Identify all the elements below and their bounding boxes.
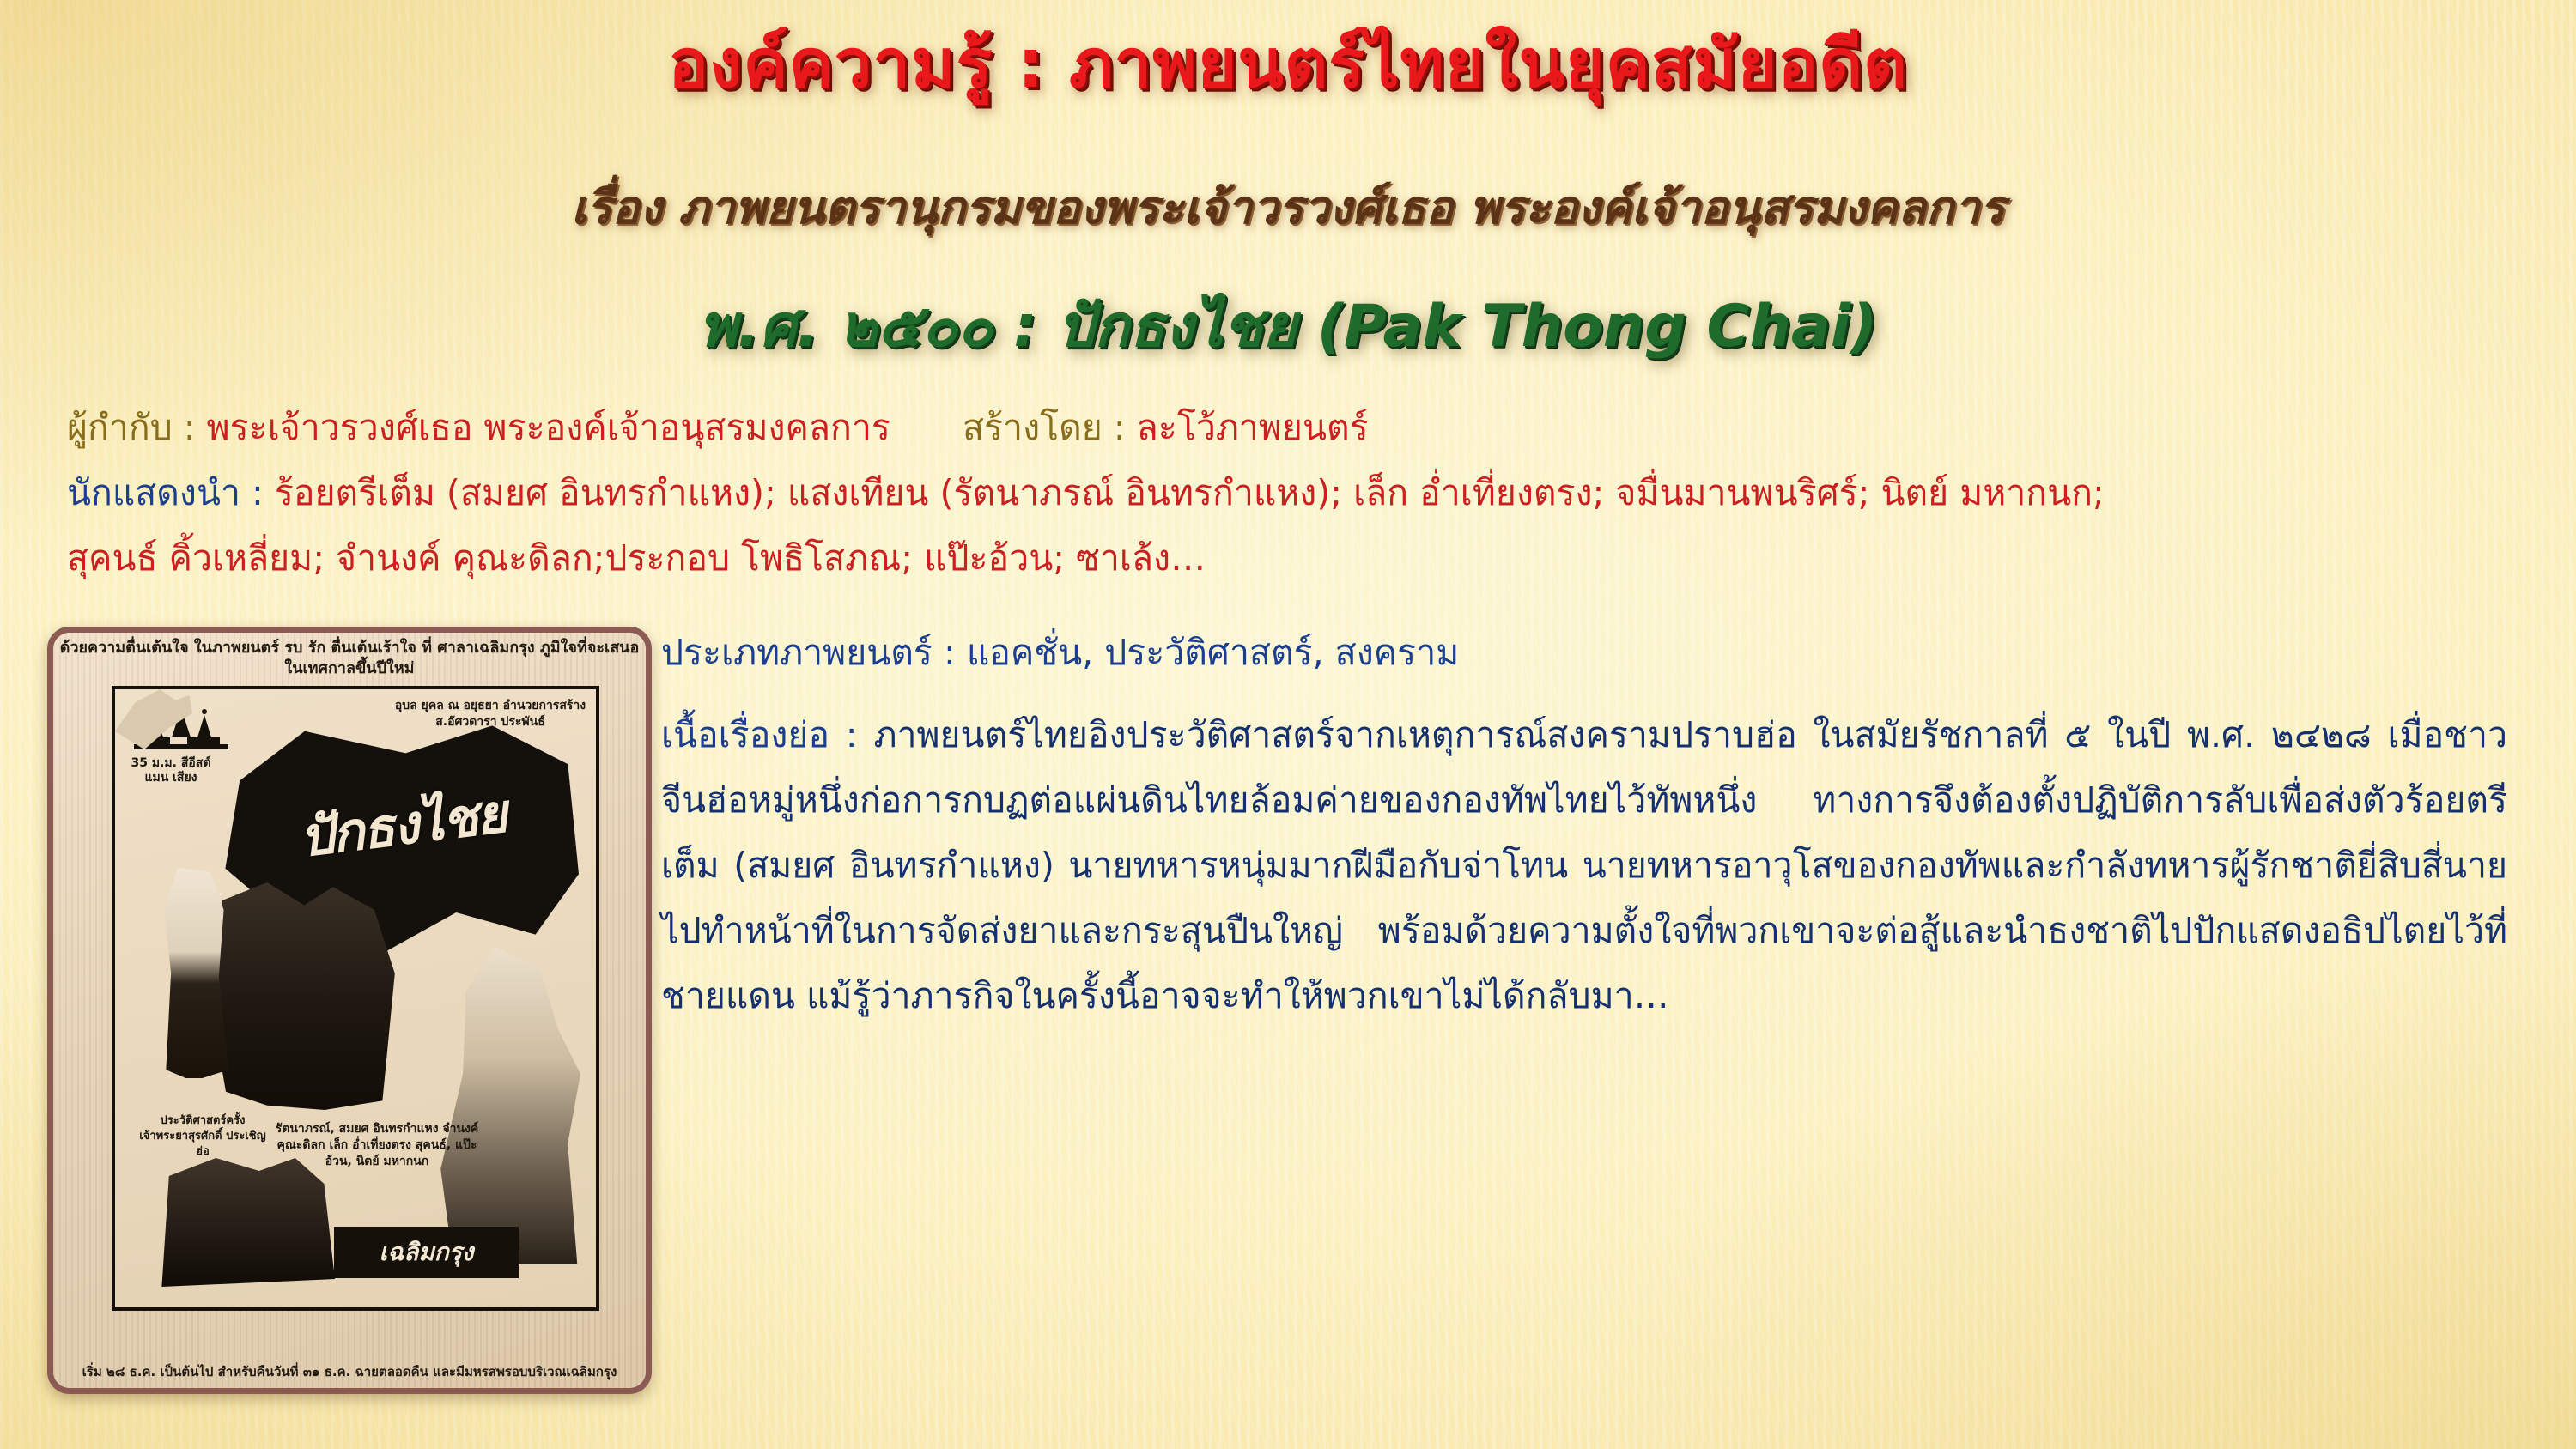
cast-line-2: สุคนธ์ คิ้วเหลี่ยม; จำนงค์ คุณะดิลก;ประก… bbox=[67, 537, 1206, 579]
poster-credits-right: อุบล ยุคล ณ อยุธยา อำนวยการสร้าง ส.อัศวด… bbox=[392, 698, 589, 731]
synopsis-text: ภาพยนตร์ไทยอิงประวัติศาสตร์จากเหตุการณ์ส… bbox=[661, 714, 2507, 1016]
genre-label: ประเภทภาพยนตร์ : bbox=[661, 632, 956, 673]
movie-poster: ด้วยความตื่นเต้นใจ ในภาพยนตร์ รบ รัก ตื่… bbox=[47, 627, 652, 1394]
poster-cast-list: รัตนาภรณ์, สมยศ อินทรกำแหง จำนงค์ คุณะดิ… bbox=[270, 1121, 484, 1170]
cast-line-1: ร้อยตรีเต็ม (สมยศ อินทรกำแหง); แสงเทียน … bbox=[275, 472, 2105, 513]
cast-label: นักแสดงนำ : bbox=[67, 472, 264, 513]
page-subtitle: เรื่อง ภาพยนตรานุกรมของพระเจ้าวรวงศ์เธอ … bbox=[0, 170, 2576, 244]
director-value: พระเจ้าวรวงศ์เธอ พระองค์เจ้าอนุสรมงคลการ bbox=[207, 407, 890, 448]
poster-artwork: 35 ม.ม. สีอีสต์แมน เสียง อุบล ยุคล ณ อยุ… bbox=[112, 686, 599, 1311]
poster-format-note: 35 ม.ม. สีอีสต์แมน เสียง bbox=[124, 756, 218, 785]
page-title: องค์ความรู้ : ภาพยนตร์ไทยในยุคสมัยอดีต bbox=[0, 10, 2576, 117]
cast-row-1: นักแสดงนำ : ร้อยตรีเต็ม (สมยศ อินทรกำแหง… bbox=[67, 460, 2557, 525]
poster-inner: ด้วยความตื่นเต้นใจ ในภาพยนตร์ รบ รัก ตื่… bbox=[53, 633, 646, 1388]
director-label: ผู้กำกับ : bbox=[67, 407, 196, 448]
cast-block: นักแสดงนำ : ร้อยตรีเต็ม (สมยศ อินทรกำแหง… bbox=[67, 460, 2557, 591]
poster-cinema-name: เฉลิมกรุง bbox=[380, 1234, 474, 1271]
synopsis-block: เนื้อเรื่องย่อ : ภาพยนตร์ไทยอิงประวัติศา… bbox=[661, 702, 2507, 1028]
synopsis-label: เนื้อเรื่องย่อ : bbox=[661, 714, 858, 755]
poster-producer-credit: อุบล ยุคล ณ อยุธยา อำนวยการสร้าง bbox=[392, 698, 589, 714]
movie-title-heading: พ.ศ. ๒๕๐๐ : ปักธงไชย (Pak Thong Chai) bbox=[0, 279, 2576, 372]
genre-row: ประเภทภาพยนตร์ : แอคชั่น, ประวัติศาสตร์,… bbox=[661, 625, 1459, 681]
studio-value: ละโว้ภาพยนตร์ bbox=[1137, 407, 1369, 448]
credits-block: ผู้กำกับ : พระเจ้าวรวงศ์เธอ พระองค์เจ้าอ… bbox=[67, 395, 2540, 460]
genre-value: แอคชั่น, ประวัติศาสตร์, สงคราม bbox=[967, 632, 1459, 673]
slide-content: องค์ความรู้ : ภาพยนตร์ไทยในยุคสมัยอดีต เ… bbox=[0, 0, 2576, 1449]
cast-row-2: สุคนธ์ คิ้วเหลี่ยม; จำนงค์ คุณะดิลก;ประก… bbox=[67, 525, 2557, 591]
kneeling-soldiers-figure bbox=[155, 1158, 335, 1287]
poster-history-note: ประวัติศาสตร์ครั้ง เจ้าพระยาสุรศักดิ์ ปร… bbox=[139, 1113, 266, 1160]
credit-row-director: ผู้กำกับ : พระเจ้าวรวงศ์เธอ พระองค์เจ้าอ… bbox=[67, 395, 2540, 460]
studio-label: สร้างโดย : bbox=[963, 407, 1126, 448]
poster-showtime-note: เริ่ม ๒๘ ธ.ค. เป็นต้นไป สำหรับคืนวันที่ … bbox=[58, 1363, 641, 1381]
hero-figure bbox=[422, 947, 580, 1264]
poster-cinema-banner: เฉลิมกรุง bbox=[334, 1227, 519, 1278]
poster-tagline: ด้วยความตื่นเต้นใจ ในภาพยนตร์ รบ รัก ตื่… bbox=[57, 638, 642, 679]
